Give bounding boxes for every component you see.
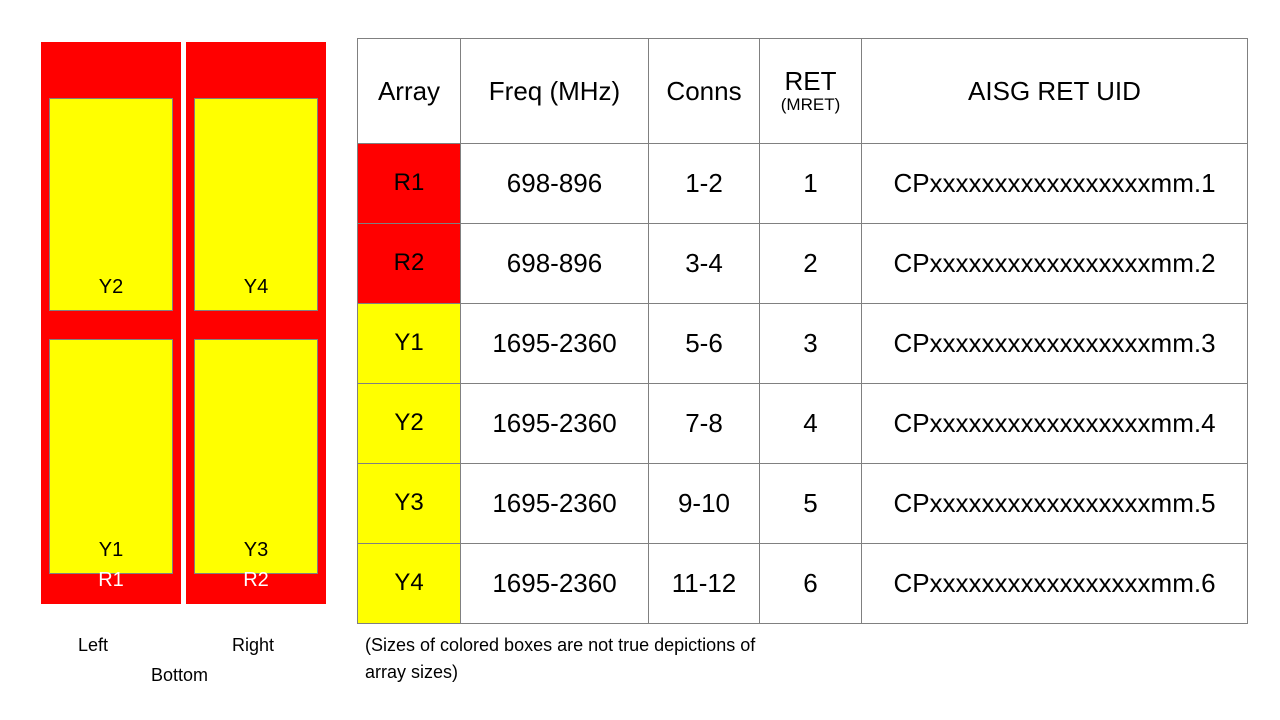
cell-conns: 1-2 [649, 144, 760, 224]
table-note: (Sizes of colored boxes are not true dep… [365, 632, 765, 686]
table-row: Y4 1695-2360 11-12 6 CPxxxxxxxxxxxxxxxxx… [358, 544, 1248, 624]
table-header-row: Array Freq (MHz) Conns RET (MRET) AISG R… [358, 39, 1248, 144]
array-box-y2: Y2 [49, 98, 173, 311]
table-row: Y1 1695-2360 5-6 3 CPxxxxxxxxxxxxxxxxxmm… [358, 304, 1248, 384]
array-box-label: Y4 [244, 277, 268, 310]
cell-ret: 5 [760, 464, 862, 544]
table-row: R2 698-896 3-4 2 CPxxxxxxxxxxxxxxxxxmm.2 [358, 224, 1248, 304]
column-header-freq: Freq (MHz) [461, 39, 649, 144]
cell-freq: 1695-2360 [461, 304, 649, 384]
antenna-array-diagram: Y2 Y1 R1 Y4 Y3 R2 Left Right Bottom [0, 0, 352, 720]
panel-label-r2: R2 [186, 570, 326, 590]
column-header-array: Array [358, 39, 461, 144]
cell-freq: 698-896 [461, 144, 649, 224]
cell-uid: CPxxxxxxxxxxxxxxxxxmm.6 [862, 544, 1248, 624]
cell-ret: 4 [760, 384, 862, 464]
array-box-y1: Y1 [49, 339, 173, 574]
column-header-ret-sub: (MRET) [760, 95, 861, 115]
cell-conns: 11-12 [649, 544, 760, 624]
column-header-ret-main: RET [785, 66, 837, 96]
cell-ret: 1 [760, 144, 862, 224]
table-header: Array Freq (MHz) Conns RET (MRET) AISG R… [358, 39, 1248, 144]
table-row: Y3 1695-2360 9-10 5 CPxxxxxxxxxxxxxxxxxm… [358, 464, 1248, 544]
cell-conns: 7-8 [649, 384, 760, 464]
cell-uid: CPxxxxxxxxxxxxxxxxxmm.1 [862, 144, 1248, 224]
cell-array: R2 [358, 224, 461, 304]
column-header-ret: RET (MRET) [760, 39, 862, 144]
array-box-y4: Y4 [194, 98, 318, 311]
array-box-y3: Y3 [194, 339, 318, 574]
table-row: R1 698-896 1-2 1 CPxxxxxxxxxxxxxxxxxmm.1 [358, 144, 1248, 224]
cell-uid: CPxxxxxxxxxxxxxxxxxmm.5 [862, 464, 1248, 544]
table-row: Y2 1695-2360 7-8 4 CPxxxxxxxxxxxxxxxxxmm… [358, 384, 1248, 464]
orientation-label-right: Right [232, 636, 274, 654]
orientation-label-left: Left [78, 636, 108, 654]
cell-array: Y3 [358, 464, 461, 544]
cell-uid: CPxxxxxxxxxxxxxxxxxmm.4 [862, 384, 1248, 464]
cell-freq: 1695-2360 [461, 464, 649, 544]
orientation-label-bottom: Bottom [151, 666, 208, 684]
column-header-uid: AISG RET UID [862, 39, 1248, 144]
cell-freq: 1695-2360 [461, 544, 649, 624]
cell-ret: 2 [760, 224, 862, 304]
panel-label-r1: R1 [41, 570, 181, 590]
cell-conns: 5-6 [649, 304, 760, 384]
cell-array: Y1 [358, 304, 461, 384]
antenna-panel-left: Y2 Y1 R1 [41, 42, 181, 604]
ret-specification-table: Array Freq (MHz) Conns RET (MRET) AISG R… [357, 38, 1248, 624]
cell-array: R1 [358, 144, 461, 224]
cell-freq: 698-896 [461, 224, 649, 304]
cell-array: Y4 [358, 544, 461, 624]
antenna-panel-right: Y4 Y3 R2 [186, 42, 326, 604]
cell-ret: 6 [760, 544, 862, 624]
cell-freq: 1695-2360 [461, 384, 649, 464]
table-body: R1 698-896 1-2 1 CPxxxxxxxxxxxxxxxxxmm.1… [358, 144, 1248, 624]
cell-uid: CPxxxxxxxxxxxxxxxxxmm.3 [862, 304, 1248, 384]
column-header-conns: Conns [649, 39, 760, 144]
cell-conns: 9-10 [649, 464, 760, 544]
cell-uid: CPxxxxxxxxxxxxxxxxxmm.2 [862, 224, 1248, 304]
cell-ret: 3 [760, 304, 862, 384]
cell-array: Y2 [358, 384, 461, 464]
array-box-label: Y2 [99, 277, 123, 310]
cell-conns: 3-4 [649, 224, 760, 304]
